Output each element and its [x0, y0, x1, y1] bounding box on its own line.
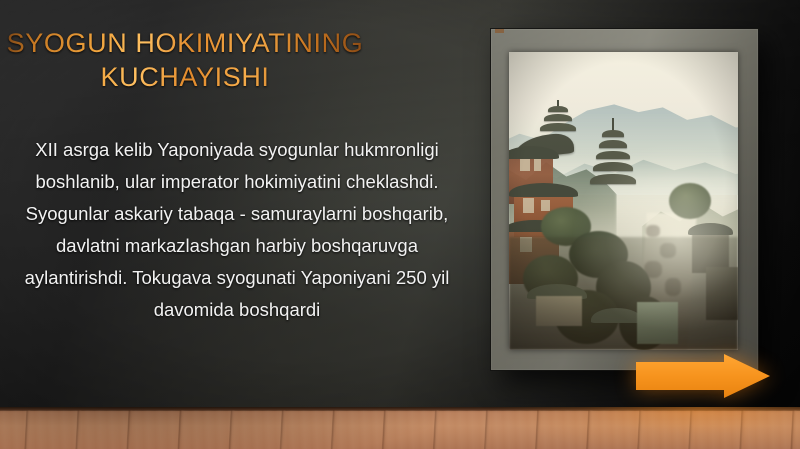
picture-vignette [509, 52, 738, 350]
slide-body-text: XII asrga kelib Yaponiyada syogunlar huk… [4, 134, 470, 326]
arrow-right-icon[interactable] [636, 354, 770, 398]
slide-title: SYOGUN HOKIMIYATINING KUCHAYISHI [0, 26, 370, 94]
slide-title-line-1: SYOGUN HOKIMIYATINING [0, 26, 370, 60]
picture-frame [491, 29, 758, 370]
presentation-slide: SYOGUN HOKIMIYATINING KUCHAYISHI XII asr… [0, 0, 800, 449]
slide-title-line-2: KUCHAYISHI [0, 60, 370, 94]
wooden-floor [0, 407, 800, 449]
frame-corner-nick [495, 29, 504, 33]
picture-image [509, 52, 738, 350]
floor-light-reflection [0, 407, 800, 449]
